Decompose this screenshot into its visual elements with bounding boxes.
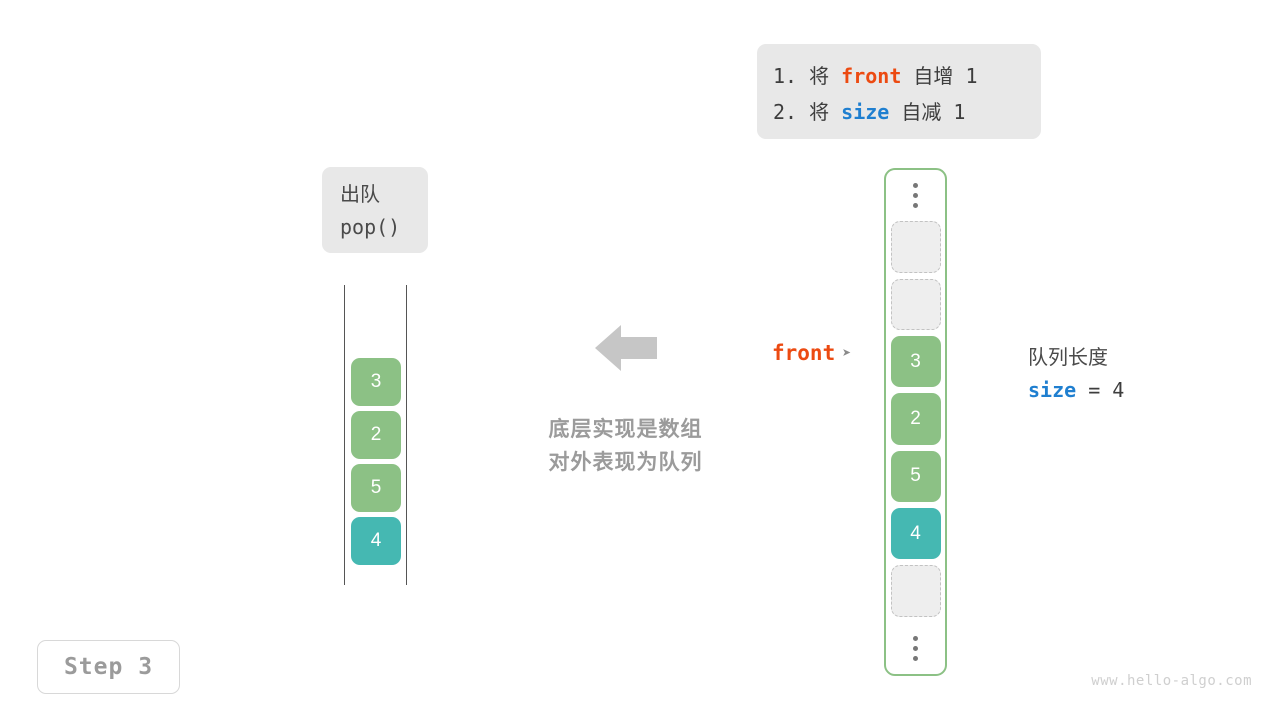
caption-line-2: 对外表现为队列	[528, 446, 723, 479]
array-slot: 5	[891, 451, 941, 502]
operation-label-box: 出队 pop()	[322, 167, 428, 253]
abstract-queue-view: 3 2 5 4	[344, 285, 408, 585]
queue-cell-list: 3 2 5 4	[351, 358, 401, 570]
array-slot-empty	[891, 221, 941, 272]
size-keyword: size	[1028, 378, 1076, 402]
size-annotation-title: 队列长度	[1028, 343, 1124, 373]
array-slot: 3	[891, 336, 941, 387]
step-badge-label: Step 3	[64, 654, 153, 680]
instruction-callout: 1. 将 front 自增 1 2. 将 size 自减 1	[757, 44, 1041, 139]
ellipsis-top-icon	[913, 170, 918, 221]
size-annotation-expression: size = 4	[1028, 373, 1124, 407]
pointer-caret-icon: ➤	[842, 346, 851, 361]
left-arrow-icon	[595, 325, 657, 371]
diagram-canvas: 1. 将 front 自增 1 2. 将 size 自减 1 出队 pop() …	[0, 0, 1280, 720]
front-keyword: front	[841, 64, 901, 88]
array-view: 3 2 5 4	[884, 168, 947, 676]
array-slot: 2	[891, 393, 941, 444]
caption-line-1: 底层实现是数组	[528, 413, 723, 446]
operation-title: 出队	[322, 178, 428, 211]
operation-code: pop()	[322, 211, 428, 244]
front-pointer-label: front	[772, 341, 835, 365]
size-keyword: size	[841, 100, 889, 124]
size-value-expression: = 4	[1076, 378, 1124, 402]
queue-cell: 3	[351, 358, 401, 406]
queue-cell: 5	[351, 464, 401, 512]
step-badge: Step 3	[37, 640, 180, 694]
array-slot-empty	[891, 565, 941, 616]
ellipsis-bottom-icon	[913, 623, 918, 674]
queue-rail-right	[406, 285, 407, 585]
array-slot-empty	[891, 279, 941, 330]
array-slot: 4	[891, 508, 941, 559]
size-annotation: 队列长度 size = 4	[1028, 343, 1124, 407]
queue-cell: 2	[351, 411, 401, 459]
queue-rail-left	[344, 285, 345, 585]
instruction-line-2: 2. 将 size 自减 1	[757, 94, 1041, 130]
center-caption: 底层实现是数组 对外表现为队列	[528, 413, 723, 479]
instruction-line-1: 1. 将 front 自增 1	[757, 58, 1041, 94]
watermark: www.hello-algo.com	[1091, 673, 1252, 689]
front-pointer: front ➤	[772, 341, 851, 365]
queue-cell: 4	[351, 517, 401, 565]
